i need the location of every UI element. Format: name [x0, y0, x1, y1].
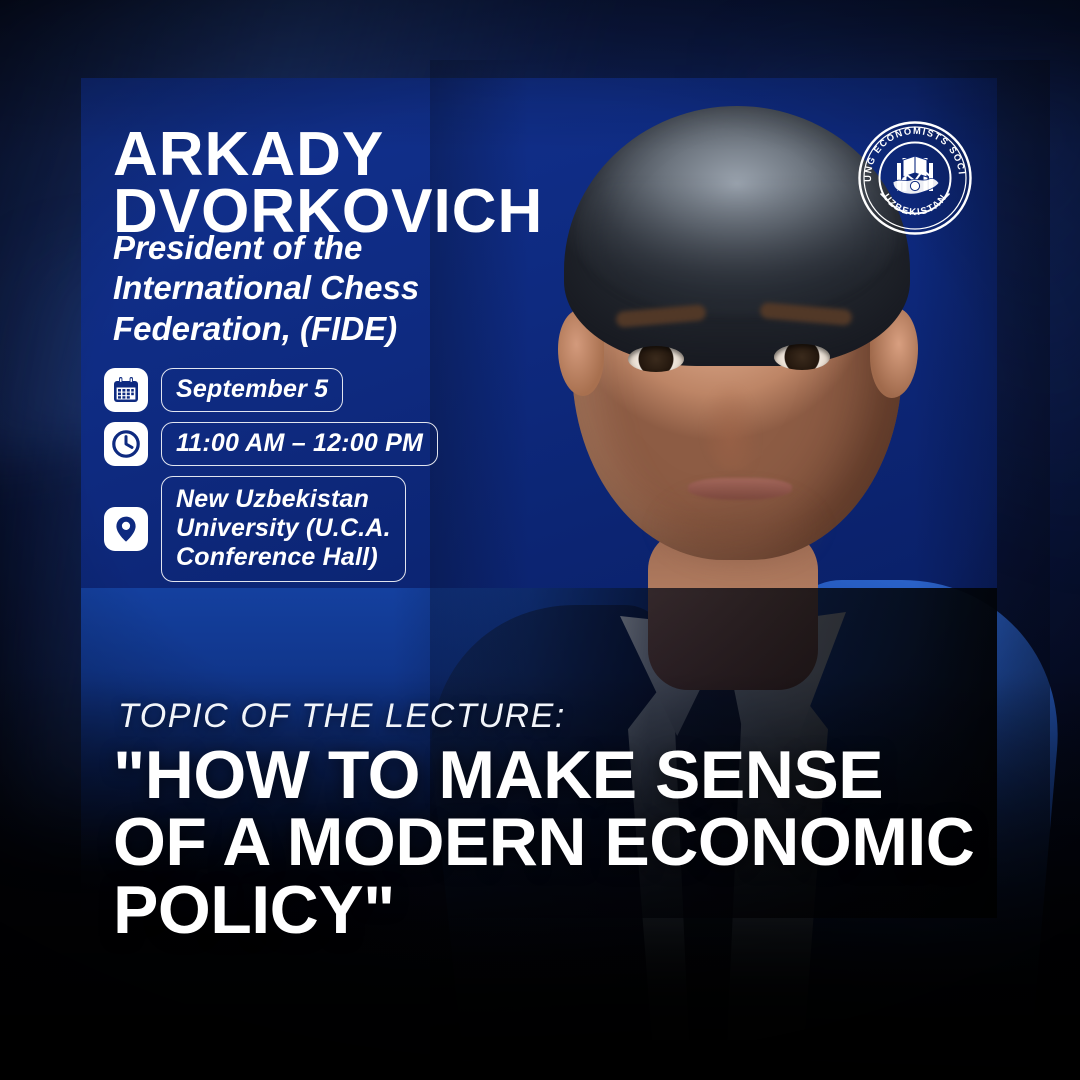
event-location-line: Conference Hall) — [176, 543, 391, 572]
speaker-name: ARKADY DVORKOVICH — [113, 126, 633, 240]
lecture-topic-title: "HOW TO MAKE SENSE OF A MODERN ECONOMIC … — [113, 742, 1033, 944]
event-time-line: 11:00 AM – 12:00 PM — [176, 429, 423, 458]
lecture-title-line: "HOW TO MAKE SENSE — [113, 742, 1033, 809]
location-pin-icon — [104, 507, 148, 551]
lecture-title-line: POLICY" — [113, 877, 1033, 944]
speaker-role-line: President of the — [113, 228, 533, 268]
event-date-text: September 5 — [161, 368, 343, 412]
event-detail-date: September 5 — [104, 368, 464, 412]
speaker-name-line: ARKADY — [113, 126, 633, 183]
lecture-title-line: OF A MODERN ECONOMIC — [113, 809, 1033, 876]
event-location-line: New Uzbekistan — [176, 485, 391, 514]
organization-logo: YOUNG ECONOMISTS SOCIETY UZBEKISTAN — [857, 120, 973, 236]
event-location-text: New Uzbekistan University (U.C.A. Confer… — [161, 476, 406, 582]
event-detail-time: 11:00 AM – 12:00 PM — [104, 422, 464, 466]
event-date-line: September 5 — [176, 375, 328, 404]
speaker-role-line: International Chess — [113, 268, 533, 308]
speaker-role-line: Federation, (FIDE) — [113, 309, 533, 349]
speaker-role: President of the International Chess Fed… — [113, 228, 533, 349]
calendar-icon — [104, 368, 148, 412]
event-detail-location: New Uzbekistan University (U.C.A. Confer… — [104, 476, 464, 582]
event-poster: ARKADY DVORKOVICH President of the Inter… — [0, 0, 1080, 1080]
svg-text:UZBEKISTAN: UZBEKISTAN — [880, 192, 949, 218]
lecture-topic-label: TOPIC OF THE LECTURE: — [118, 697, 566, 736]
clock-icon — [104, 422, 148, 466]
event-details: September 5 11:00 AM – 12:00 PM — [104, 368, 464, 592]
event-location-line: University (U.C.A. — [176, 514, 391, 543]
event-time-text: 11:00 AM – 12:00 PM — [161, 422, 438, 466]
